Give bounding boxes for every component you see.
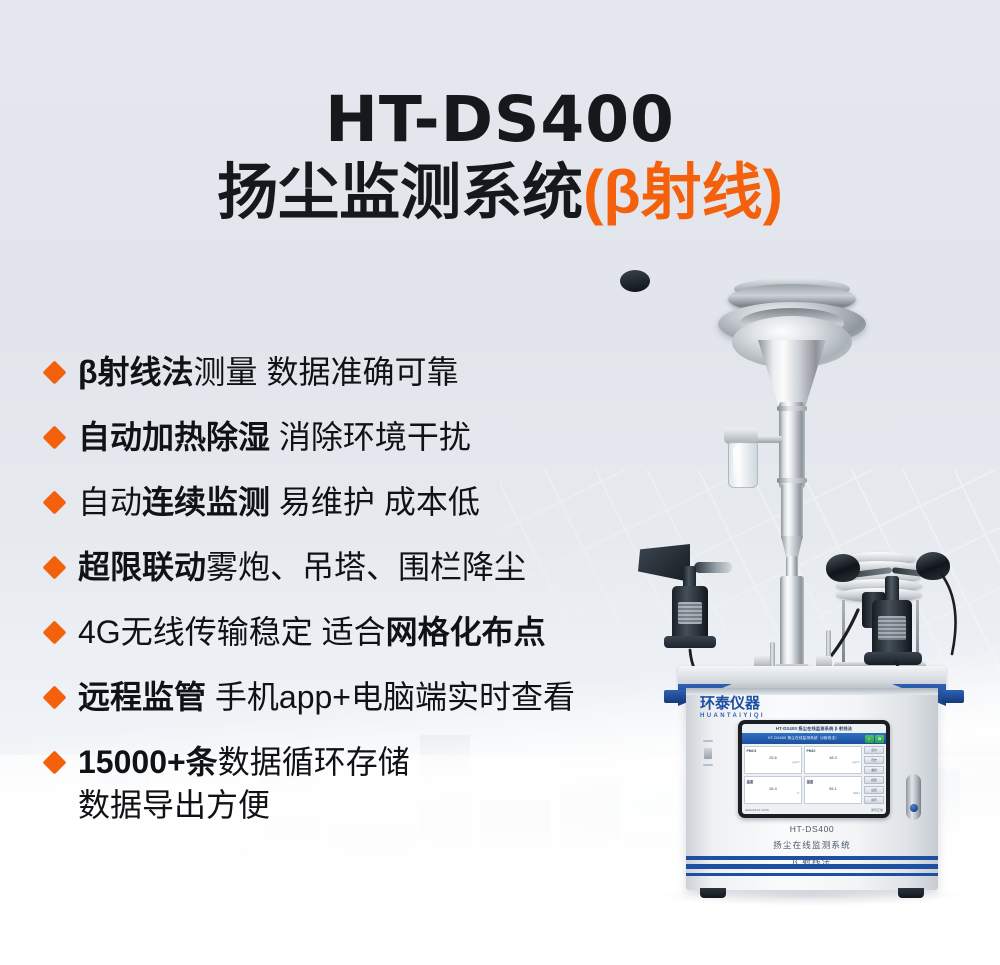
cell-unit: %RH (807, 791, 860, 795)
screen-side-button[interactable]: 报警 (864, 776, 884, 784)
screen-side-button[interactable]: 通讯 (864, 796, 884, 804)
feature-text: 4G无线传输稳定 适合网格化布点 (78, 612, 546, 653)
feature-text-line1: 15000+条数据循环存储 (78, 744, 410, 780)
feature-text: 超限联动雾炮、吊塔、围栏降尘 (78, 547, 526, 588)
screen-side-buttons: 实时 历史 曲线 报警 设置 通讯 (864, 746, 884, 804)
feature-bold: 超限联动 (78, 549, 206, 585)
cell-unit: μg/m³ (747, 760, 800, 764)
cabinet-foot (700, 888, 726, 898)
feature-normal: 消除环境干扰 (270, 419, 471, 455)
screen-comm-status: 通讯正常 (871, 808, 883, 812)
diamond-marker-icon (42, 490, 66, 514)
feature-text: 远程监管 手机app+电脑端实时查看 (78, 677, 575, 718)
feature-bold: 远程监管 (78, 679, 206, 715)
cable-connector-right (942, 690, 964, 703)
feature-normal: 自动 (78, 484, 142, 520)
screen-data-cell: 湿度 55.1 %RH (804, 776, 862, 804)
brand-name-cn: 环泰仪器 (700, 696, 820, 711)
feature-bold: 网格化布点 (386, 614, 546, 650)
cell-name: PM2.5 (747, 749, 800, 753)
diamond-marker-icon (42, 555, 66, 579)
cabinet-stripe (686, 856, 938, 860)
cabinet-stripe (686, 873, 938, 876)
cabinet-top-edge (686, 688, 938, 695)
title-block: HT-DS400 扬尘监测系统(β射线) (0, 88, 1000, 226)
screen-bar-label: HT-DS400 扬尘在线监测系统（β射线法） (744, 736, 863, 741)
screen-data-cell: PM10 48.3 μg/m³ (804, 746, 862, 774)
diamond-marker-icon (42, 360, 66, 384)
cabinet-label-block: HT-DS400 扬尘在线监测系统 β 射线法 (686, 824, 938, 868)
diamond-marker-icon (42, 750, 66, 774)
diamond-marker-icon (42, 620, 66, 644)
screen-side-button[interactable]: 曲线 (864, 766, 884, 774)
feature-text: 自动加热除湿 消除环境干扰 (78, 417, 471, 458)
feature-text: β射线法测量 数据准确可靠 (78, 352, 458, 393)
feature-normal: 数据循环存储 (218, 744, 410, 780)
cell-unit: μg/m³ (807, 760, 860, 764)
cell-name: PM10 (807, 749, 860, 753)
brand-logo: 环泰仪器 HUANTAIYIQI (700, 696, 820, 719)
product-name-text: 扬尘监测系统 (217, 158, 583, 226)
product-device-image: 环泰仪器 HUANTAIYIQI HT-DS400 扬尘在线监测系统 β 射线法… (620, 270, 1000, 930)
feature-bold: 连续监测 (142, 484, 270, 520)
brand-name-en: HUANTAIYIQI (700, 713, 820, 719)
product-model-title: HT-DS400 (0, 88, 1000, 152)
cabinet-name-label: 扬尘在线监测系统 (686, 839, 938, 851)
feature-normal: 手机app+电脑端实时查看 (206, 679, 575, 715)
feature-bold: 15000+条 (78, 744, 218, 780)
feature-text: 15000+条数据循环存储 数据导出方便 (78, 742, 410, 827)
screen-status-bar: 2024-05-12 10:26 通讯正常 (742, 806, 886, 814)
screen-side-button[interactable]: 实时 (864, 746, 884, 754)
screen-home-button[interactable]: ⌂ (865, 735, 874, 743)
screen-data-cell: 温度 26.4 ℃ (744, 776, 802, 804)
feature-normal: 测量 数据准确可靠 (194, 354, 459, 390)
screen-settings-button[interactable]: ✿ (875, 735, 884, 743)
screen-side-button[interactable]: 历史 (864, 756, 884, 764)
product-name-highlight: (β射线) (583, 158, 783, 226)
cabinet-stripe (686, 864, 938, 869)
cell-name: 湿度 (807, 779, 860, 784)
feature-normal-2: 易维护 成本低 (270, 484, 480, 520)
screen-timestamp: 2024-05-12 10:26 (745, 808, 769, 812)
door-lock-icon[interactable] (910, 804, 918, 812)
cell-name: 温度 (747, 779, 800, 784)
cabinet-door-handle[interactable] (906, 774, 921, 820)
diamond-marker-icon (42, 685, 66, 709)
product-name-title: 扬尘监测系统(β射线) (0, 160, 1000, 226)
usb-port-icon[interactable] (704, 748, 712, 759)
cabinet-model-label: HT-DS400 (686, 824, 938, 834)
feature-normal: 4G无线传输稳定 适合 (78, 614, 386, 650)
cable-connector-left (664, 690, 686, 703)
screen-data-grid: PM2.5 25.6 μg/m³ PM10 48.3 μg/m³ 温度 (744, 746, 862, 804)
feature-text: 自动连续监测 易维护 成本低 (78, 482, 480, 523)
cell-unit: ℃ (747, 791, 800, 795)
diamond-marker-icon (42, 425, 66, 449)
cabinet-vent (703, 764, 713, 766)
feature-text-line2: 数据导出方便 (78, 783, 410, 827)
poster-canvas: HT-DS400 扬尘监测系统(β射线) β射线法测量 数据准确可靠 自动加热除… (0, 0, 1000, 965)
screen-header-bar: HT-DS400 扬尘在线监测系统（β射线法） ⌂ ✿ (742, 733, 886, 744)
cabinet-foot (898, 888, 924, 898)
device-touchscreen[interactable]: HT-DS400 扬尘在线监测系统 β 射线法 HT-DS400 扬尘在线监测系… (738, 720, 890, 818)
feature-bold: 自动加热除湿 (78, 419, 270, 455)
screen-side-button[interactable]: 设置 (864, 786, 884, 794)
screen-data-cell: PM2.5 25.6 μg/m³ (744, 746, 802, 774)
feature-normal: 雾炮、吊塔、围栏降尘 (206, 549, 526, 585)
cabinet-vent (703, 740, 713, 742)
feature-bold: β射线法 (78, 354, 194, 390)
screen-title: HT-DS400 扬尘在线监测系统 β 射线法 (742, 724, 886, 733)
